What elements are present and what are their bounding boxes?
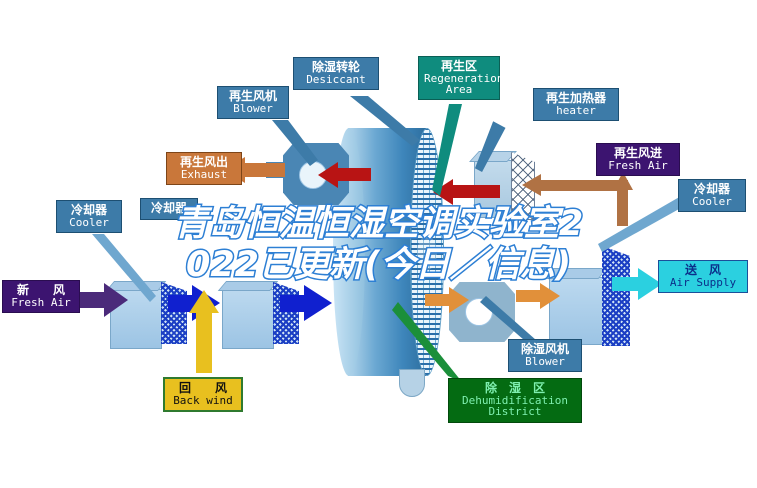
cooling-coil	[222, 289, 274, 349]
cooling-coil-top	[218, 281, 278, 291]
process-air-flow-shaft-2	[280, 295, 306, 312]
regeneration-hot-air-flow-shaft-b	[452, 185, 500, 198]
label-back-wind: 回 风 Back wind	[163, 377, 243, 412]
return-air-flow-shaft	[196, 310, 212, 373]
label-dehumidification-blower: 除湿风机 Blower	[508, 339, 582, 372]
label-exhaust: 再生风出 Exhaust	[166, 152, 242, 185]
desiccant-rotor-hub	[417, 236, 437, 270]
regeneration-hot-air-flow-head-b	[433, 179, 453, 205]
label-fresh-air: 新 风 Fresh Air	[2, 280, 80, 313]
label-cooler-right: 冷却器 Cooler	[678, 179, 746, 212]
label-regeneration-heater: 再生加热器 heater	[533, 88, 619, 121]
label-regeneration-blower: 再生风机 Blower	[217, 86, 289, 119]
regeneration-hot-air-flow-shaft-a	[337, 168, 371, 181]
condensate-drain	[399, 369, 425, 397]
label-desiccant: 除湿转轮 Desiccant	[293, 57, 379, 90]
cooling-coil-face	[273, 282, 299, 344]
label-regeneration-fresh-air: 再生风进 Fresh Air	[596, 143, 680, 176]
regeneration-intake-riser-shaft	[617, 188, 628, 226]
regeneration-intake-flow-head	[522, 174, 541, 196]
label-cooler-left: 冷却器 Cooler	[56, 200, 122, 233]
dry-air-flow-head-2	[540, 283, 560, 309]
post-cooling-coil-face	[602, 246, 630, 346]
process-air-flow-head-2	[304, 285, 332, 321]
return-air-flow-head	[189, 290, 219, 313]
exhaust-flow-shaft	[243, 163, 285, 177]
pre-cooler-coil-face	[161, 282, 187, 344]
dry-air-flow-shaft-1	[425, 294, 451, 306]
diagram-canvas: 除湿转轮 Desiccant 再生风机 Blower 再生区 Regenerat…	[0, 0, 757, 488]
fresh-air-flow-shaft	[76, 292, 106, 308]
label-cooler-mid: 冷却器	[140, 198, 198, 220]
dehumidification-blower-hub	[465, 298, 493, 326]
fresh-air-flow-head	[104, 283, 128, 317]
label-dehumidification-district: 除 湿 区 Dehumidification District	[448, 378, 582, 423]
label-air-supply: 送 风 Air Supply	[658, 260, 748, 293]
supply-air-flow-shaft	[612, 277, 640, 291]
label-regeneration-area: 再生区 Regeneration Area	[418, 56, 500, 100]
post-cooling-coil-top	[544, 268, 607, 279]
regeneration-hot-air-flow-head-a	[318, 162, 338, 188]
dry-air-flow-head-1	[449, 287, 469, 313]
dry-air-flow-shaft-2	[516, 290, 542, 302]
